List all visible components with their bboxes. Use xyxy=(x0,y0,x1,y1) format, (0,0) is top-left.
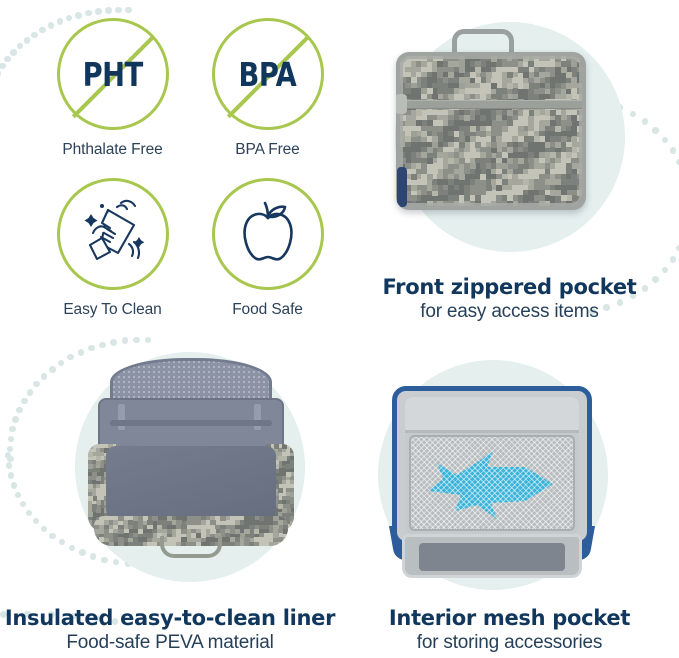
no-phthalate-icon: PHT xyxy=(57,18,169,130)
bag-seam xyxy=(400,56,582,206)
decorative-dot xyxy=(4,56,11,63)
decorative-dot xyxy=(125,7,132,14)
decorative-dot xyxy=(85,10,92,17)
badge-phthalate-free: PHT Phthalate Free xyxy=(40,18,185,170)
feature-subtitle: for storing accessories xyxy=(340,632,679,655)
mesh-pocket-with-shark-ice-pack-photo xyxy=(392,386,592,582)
badge-caption: BPA Free xyxy=(235,141,299,159)
bag-handle xyxy=(160,536,222,558)
feature-title: Interior mesh pocket xyxy=(340,606,679,630)
decorative-dot xyxy=(17,43,24,50)
feature-subtitle: for easy access items xyxy=(340,301,679,324)
bag-body xyxy=(396,52,586,210)
hand-wiping-cloth-icon xyxy=(77,197,149,272)
decorative-dot xyxy=(10,49,17,56)
decorative-dot xyxy=(95,8,102,15)
liner-strut-right xyxy=(254,404,261,430)
feature-title: Front zippered pocket xyxy=(340,275,679,299)
feature-subtitle: Food-safe PEVA material xyxy=(0,632,340,655)
no-bpa-icon: BPA xyxy=(212,18,324,130)
badge-food-safe: Food Safe xyxy=(195,178,340,330)
peva-liner-floor xyxy=(106,446,276,524)
feature-front-zippered-pocket: Front zippered pocket for easy access it… xyxy=(340,0,679,330)
apple-icon xyxy=(235,198,301,271)
feature-caption: Insulated easy-to-clean liner Food-safe … xyxy=(0,606,340,655)
feature-caption: Front zippered pocket for easy access it… xyxy=(340,275,679,324)
liner-seam xyxy=(110,420,272,426)
lid-top-band xyxy=(405,397,579,433)
feature-interior-mesh-pocket: Interior mesh pocket for storing accesso… xyxy=(340,330,679,658)
badge-abbr-label: PHT xyxy=(82,58,142,91)
badge-caption: Easy To Clean xyxy=(63,301,161,319)
decorative-dot xyxy=(31,32,38,39)
closed-camo-lunch-bag-photo xyxy=(396,30,586,220)
base-liner xyxy=(419,543,565,571)
badge-bpa-free: BPA BPA Free xyxy=(195,18,340,170)
badge-abbr-label: BPA xyxy=(239,58,297,91)
zipper-pull xyxy=(396,94,407,114)
feature-title: Insulated easy-to-clean liner xyxy=(0,606,340,630)
decorative-dot xyxy=(24,37,31,44)
main-zipper-tab xyxy=(397,167,407,207)
open-lunch-bag-liner-photo xyxy=(88,358,294,563)
shark-ice-pack-icon xyxy=(421,445,571,523)
badge-easy-to-clean: Easy To Clean xyxy=(40,178,185,330)
decorative-dot xyxy=(115,7,122,14)
front-pocket-zipper xyxy=(400,100,582,109)
bag-lid-interior xyxy=(392,386,592,546)
certification-badge-grid: PHT Phthalate Free BPA BPA Free xyxy=(40,18,340,330)
bag-base-compartment xyxy=(402,534,582,578)
feature-caption: Interior mesh pocket for storing accesso… xyxy=(340,606,679,655)
decorative-dot xyxy=(0,63,6,70)
badge-caption: Phthalate Free xyxy=(62,141,162,159)
mesh-pocket xyxy=(409,435,575,531)
feature-insulated-liner: Insulated easy-to-clean liner Food-safe … xyxy=(0,330,340,658)
decorative-dot xyxy=(105,7,112,14)
product-feature-infographic: PHT Phthalate Free BPA BPA Free xyxy=(0,0,679,658)
badge-caption: Food Safe xyxy=(232,301,303,319)
decorative-dot xyxy=(0,70,1,77)
liner-strut-left xyxy=(118,404,125,430)
